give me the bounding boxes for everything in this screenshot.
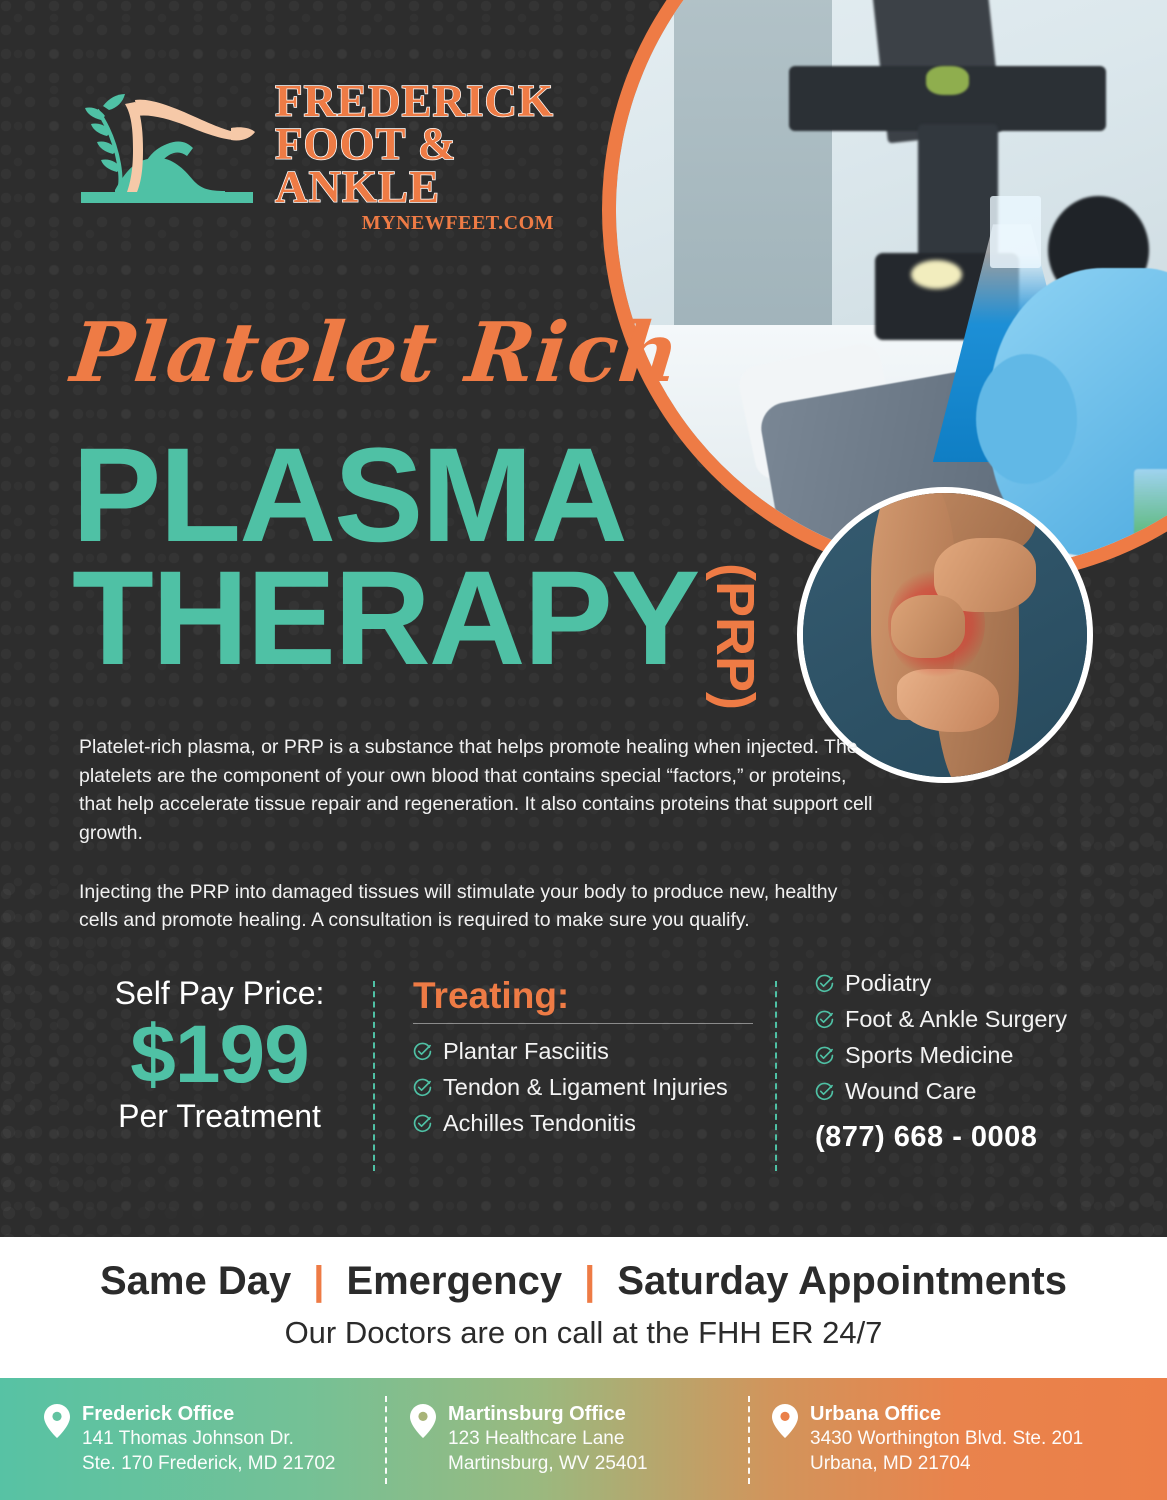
office-name: Martinsburg Office [448,1402,648,1427]
list-item: Wound Care [815,1078,1115,1105]
list-item-label: Achilles Tendonitis [443,1110,636,1137]
office-address-line-1: 123 Healthcare Lane [448,1427,648,1451]
logo-website: MYNEWFEET.COM [275,212,554,235]
list-item-label: Wound Care [845,1078,977,1105]
office-urbana[interactable]: Urbana Office 3430 Worthington Blvd. Ste… [772,1402,1152,1476]
page-title-line-2: THERAPY [72,555,698,684]
prp-abbreviation: (PRP) [704,563,766,710]
office-name: Frederick Office [82,1402,335,1427]
check-circle-icon [815,1010,834,1029]
info-row: Self Pay Price: $199 Per Treatment Treat… [0,975,1167,1180]
office-frederick[interactable]: Frederick Office 141 Thomas Johnson Dr. … [44,1402,384,1476]
map-pin-icon [44,1404,70,1438]
check-circle-icon [815,1046,834,1065]
map-pin-icon [772,1404,798,1438]
pricing-block: Self Pay Price: $199 Per Treatment [72,975,367,1135]
phone-number[interactable]: (877) 668 - 0008 [815,1121,1115,1154]
banner-separator: | [313,1259,324,1304]
banner-item-same-day: Same Day [100,1259,291,1304]
office-name: Urbana Office [810,1402,1083,1427]
logo-line-1: FREDERICK [275,80,554,123]
footer-divider-1 [385,1396,387,1484]
services-block: Podiatry Foot & Ankle Surgery Sports Med… [815,970,1115,1154]
office-address-line-1: 3430 Worthington Blvd. Ste. 201 [810,1427,1083,1451]
price-label: Self Pay Price: [72,975,367,1012]
footer-offices: Frederick Office 141 Thomas Johnson Dr. … [0,1378,1167,1500]
treating-title: Treating: [413,975,753,1017]
map-pin-icon [410,1404,436,1438]
list-item-label: Sports Medicine [845,1042,1014,1069]
brand-logo[interactable]: FREDERICK FOOT & ANKLE MYNEWFEET.COM [75,72,535,207]
list-item-label: Podiatry [845,970,931,997]
list-item: Sports Medicine [815,1042,1115,1069]
banner-item-saturday: Saturday Appointments [617,1259,1067,1304]
treating-rule [413,1023,753,1024]
banner-item-emergency: Emergency [346,1259,562,1304]
body-paragraph-2: Injecting the PRP into damaged tissues w… [79,878,879,935]
office-address-line-2: Martinsburg, WV 25401 [448,1452,648,1476]
check-circle-icon [413,1078,432,1097]
check-circle-icon [413,1042,432,1061]
list-item: Achilles Tendonitis [413,1110,753,1137]
script-heading: Platelet Rich [67,305,685,401]
check-circle-icon [815,1082,834,1101]
price-amount: $199 [72,1014,367,1096]
lab-flask-microscope-photo [616,0,1167,570]
list-item: Plantar Fasciitis [413,1038,753,1065]
check-circle-icon [815,974,834,993]
divider-dashed-left [373,981,375,1171]
body-paragraph-1: Platelet-rich plasma, or PRP is a substa… [79,733,879,848]
body-copy: Platelet-rich plasma, or PRP is a substa… [79,733,879,935]
list-item-label: Foot & Ankle Surgery [845,1006,1067,1033]
office-martinsburg[interactable]: Martinsburg Office 123 Healthcare Lane M… [410,1402,730,1476]
treating-block: Treating: Plantar Fasciitis Tendon & Lig… [413,975,753,1146]
office-address-line-2: Urbana, MD 21704 [810,1452,1083,1476]
appointments-banner-items: Same Day | Emergency | Saturday Appointm… [0,1259,1167,1304]
price-sublabel: Per Treatment [72,1098,367,1135]
page-title: PLASMA THERAPY [72,432,698,683]
flyer-page: FREDERICK FOOT & ANKLE MYNEWFEET.COM Pla… [0,0,1167,1500]
logo-wordmark: FREDERICK FOOT & ANKLE MYNEWFEET.COM [275,80,554,235]
office-address-line-1: 141 Thomas Johnson Dr. [82,1427,335,1451]
list-item-label: Tendon & Ligament Injuries [443,1074,728,1101]
leg-and-plant-logo-icon [75,72,260,207]
logo-line-2: FOOT & ANKLE [275,123,554,209]
check-circle-icon [413,1114,432,1133]
office-address-line-2: Ste. 170 Frederick, MD 21702 [82,1452,335,1476]
divider-dashed-right [775,981,777,1171]
list-item: Podiatry [815,970,1115,997]
banner-subline: Our Doctors are on call at the FHH ER 24… [0,1315,1167,1351]
list-item: Foot & Ankle Surgery [815,1006,1115,1033]
list-item: Tendon & Ligament Injuries [413,1074,753,1101]
appointments-banner: Same Day | Emergency | Saturday Appointm… [0,1237,1167,1378]
list-item-label: Plantar Fasciitis [443,1038,609,1065]
footer-divider-2 [748,1396,750,1484]
banner-separator: | [584,1259,595,1304]
